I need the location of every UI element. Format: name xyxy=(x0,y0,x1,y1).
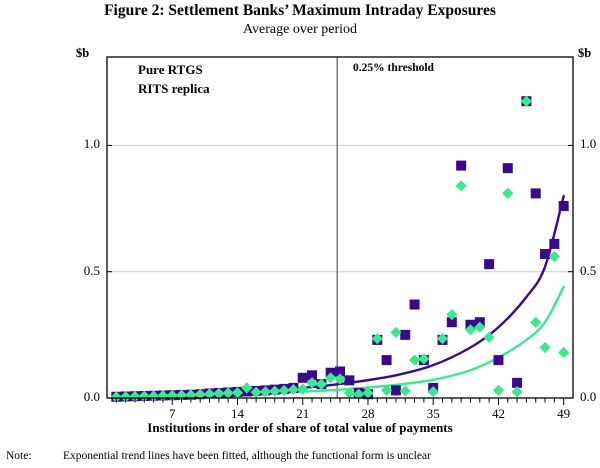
axis-frame xyxy=(107,57,573,398)
threshold-annotation-label: 0.25% threshold xyxy=(353,62,434,74)
figure-container: Figure 2: Settlement Banks’ Maximum Intr… xyxy=(0,0,600,468)
square-marker-icon xyxy=(112,62,128,78)
y-tick-label-left: 0.5 xyxy=(64,263,100,279)
trend-lines xyxy=(116,196,563,396)
note-text: Exponential trend lines have been fitted… xyxy=(63,450,431,462)
x-axis-title: Institutions in order of share of total … xyxy=(0,420,600,436)
diamond-marker-icon xyxy=(112,81,128,97)
legend-label-rits-replica: RITS replica xyxy=(138,81,210,97)
y-tick-label-left: 0.0 xyxy=(64,389,100,405)
y-tick-label-right: 0.5 xyxy=(580,263,596,279)
legend-item-pure-rtgs: Pure RTGS xyxy=(112,61,210,79)
note-label: Note: xyxy=(6,450,32,462)
legend-label-pure-rtgs: Pure RTGS xyxy=(138,62,203,78)
y-tick-label-right: 1.0 xyxy=(580,136,596,152)
y-tick-label-left: 1.0 xyxy=(64,136,100,152)
data-points xyxy=(111,96,570,403)
legend-item-rits-replica: RITS replica xyxy=(112,80,210,98)
chart-legend: Pure RTGS RITS replica xyxy=(112,61,210,99)
y-tick-label-right: 0.0 xyxy=(580,389,596,405)
